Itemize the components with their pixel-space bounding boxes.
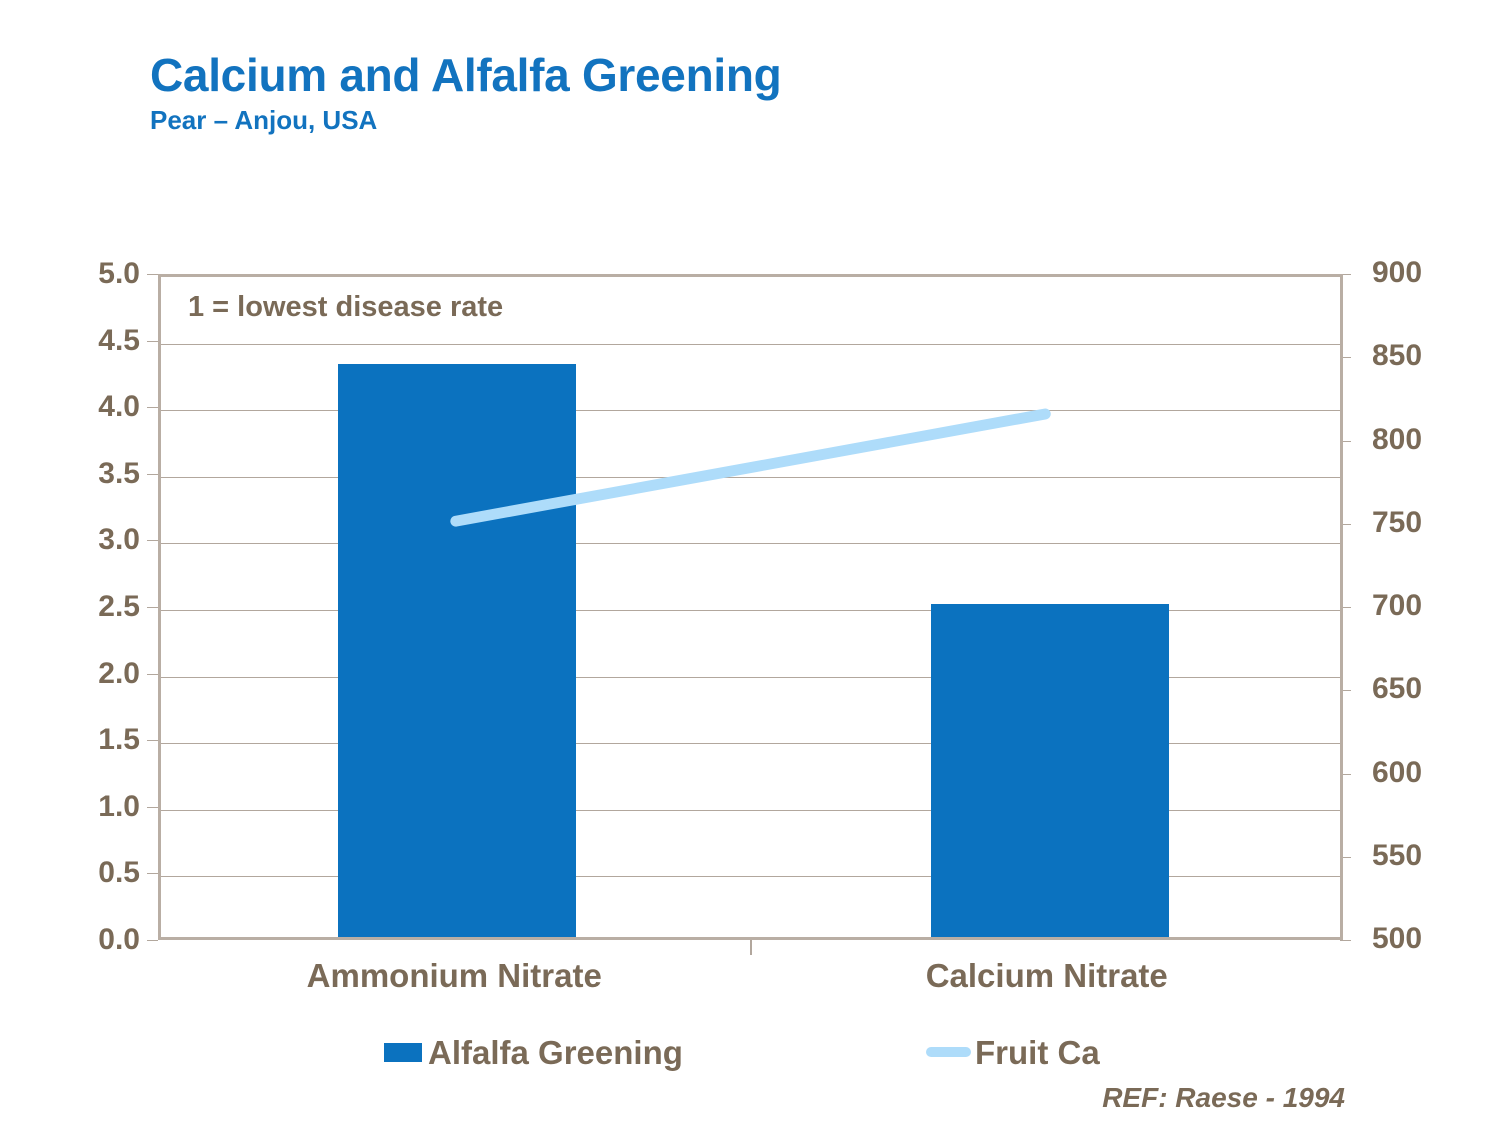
y-axis-right-tick	[1340, 940, 1351, 941]
y-axis-left-tick-label: 1.0	[98, 792, 140, 822]
y-axis-right-tick-label: 850	[1372, 341, 1422, 371]
x-axis-labels: Ammonium NitrateCalcium Nitrate	[158, 958, 1343, 1004]
y-axis-left-tick	[147, 474, 158, 475]
y-axis-left-tick-label: 0.5	[98, 858, 140, 888]
y-axis-left: 5.04.54.03.53.02.52.01.51.00.50.0	[64, 274, 140, 940]
y-axis-left-tick-label: 4.5	[98, 326, 140, 356]
legend-line-icon	[926, 1047, 971, 1057]
y-axis-left-tick	[147, 274, 158, 275]
y-axis-left-tick	[147, 873, 158, 874]
legend-item[interactable]: Alfalfa Greening	[384, 1028, 683, 1076]
y-axis-left-tick-label: 1.5	[98, 725, 140, 755]
legend-item[interactable]: Fruit Ca	[926, 1028, 1100, 1076]
y-axis-left-tick	[147, 540, 158, 541]
y-axis-left-tick-label: 2.0	[98, 659, 140, 689]
x-axis-category-label: Ammonium Nitrate	[158, 958, 751, 994]
y-axis-right-tick-label: 900	[1372, 258, 1422, 288]
y-axis-right-tick-label: 800	[1372, 425, 1422, 455]
x-axis-tick	[750, 940, 752, 955]
y-axis-left-tick-label: 3.5	[98, 459, 140, 489]
page-subtitle: Pear – Anjou, USA	[150, 105, 1250, 136]
reference-note: REF: Raese - 1994	[0, 1082, 1345, 1114]
y-axis-right-tick-label: 600	[1372, 758, 1422, 788]
title-block: Calcium and Alfalfa Greening Pear – Anjo…	[150, 52, 1250, 136]
chart-legend: Alfalfa GreeningFruit Ca	[158, 1028, 1343, 1076]
y-axis-left-tick-label: 4.0	[98, 392, 140, 422]
page-title: Calcium and Alfalfa Greening	[150, 52, 1250, 99]
legend-square-icon	[384, 1043, 422, 1062]
y-axis-right-tick-label: 500	[1372, 924, 1422, 954]
y-axis-right-tick-label: 750	[1372, 508, 1422, 538]
y-axis-left-tick	[147, 940, 158, 941]
y-axis-left-tick	[147, 807, 158, 808]
line-series-fruit-ca	[161, 277, 1340, 937]
y-axis-left-tick	[147, 407, 158, 408]
y-axis-left-tick	[147, 674, 158, 675]
y-axis-left-tick-label: 3.0	[98, 525, 140, 555]
legend-label: Fruit Ca	[975, 1036, 1100, 1069]
y-axis-left-tick	[147, 740, 158, 741]
plot-area: 1 = lowest disease rate	[158, 274, 1343, 940]
y-axis-right-tick-label: 550	[1372, 841, 1422, 871]
y-axis-left-tick-label: 2.5	[98, 592, 140, 622]
legend-label: Alfalfa Greening	[428, 1036, 683, 1069]
y-axis-left-tick	[147, 607, 158, 608]
y-axis-left-tick-label: 0.0	[98, 925, 140, 955]
y-axis-right-tick-label: 700	[1372, 591, 1422, 621]
y-axis-left-tick-label: 5.0	[98, 259, 140, 289]
y-axis-right: 900850800750700650600550500	[1372, 274, 1492, 940]
y-axis-right-tick-label: 650	[1372, 674, 1422, 704]
fruit-ca-polyline	[456, 414, 1046, 521]
y-axis-left-tick	[147, 341, 158, 342]
x-axis-category-label: Calcium Nitrate	[751, 958, 1344, 994]
slide-canvas: Calcium and Alfalfa Greening Pear – Anjo…	[0, 0, 1500, 1125]
